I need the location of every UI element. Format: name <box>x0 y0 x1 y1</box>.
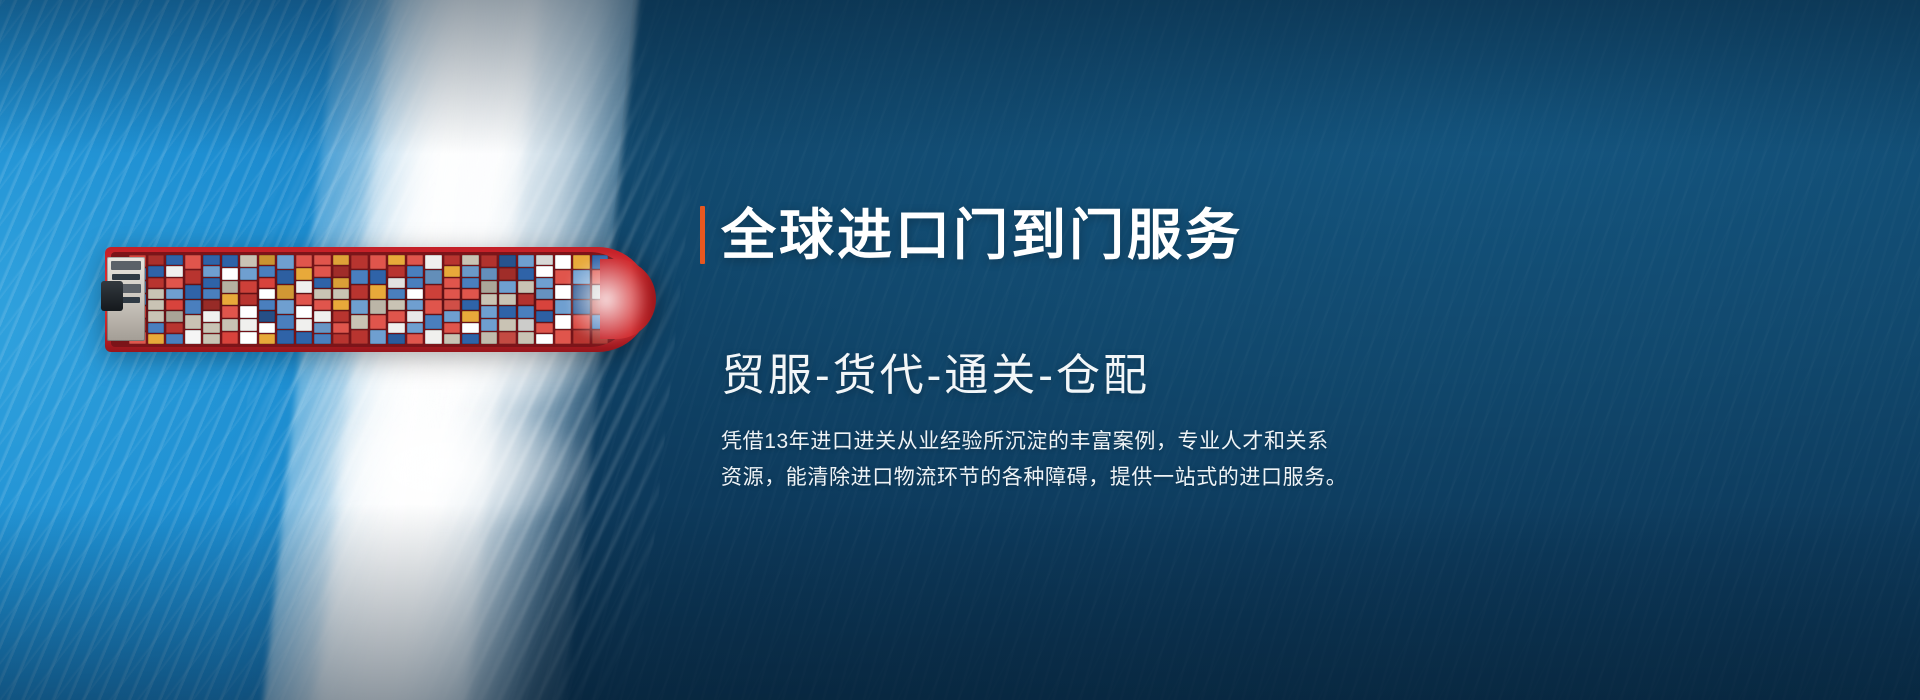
banner-content: 全球进口门到门服务 贸服-货代-通关-仓配 凭借13年进口进关从业经验所沉淀的丰… <box>700 168 1460 496</box>
banner-subtitle: 贸服-货代-通关-仓配 <box>721 350 1460 402</box>
body-copy-line-1: 凭借13年进口进关从业经验所沉淀的丰富案例，专业人才和关系 <box>721 424 1421 460</box>
banner-body-copy: 凭借13年进口进关从业经验所沉淀的丰富案例，专业人才和关系 资源，能清除进口物流… <box>721 424 1421 496</box>
banner-headline: 全球进口门到门服务 <box>721 205 1243 265</box>
hero-banner: 全球进口门到门服务 贸服-货代-通关-仓配 凭借13年进口进关从业经验所沉淀的丰… <box>0 0 1920 700</box>
headline-row: 全球进口门到门服务 <box>700 168 1460 302</box>
accent-bar-icon <box>700 206 705 264</box>
body-copy-line-2: 资源，能清除进口物流环节的各种障碍，提供一站式的进口服务。 <box>721 460 1421 496</box>
